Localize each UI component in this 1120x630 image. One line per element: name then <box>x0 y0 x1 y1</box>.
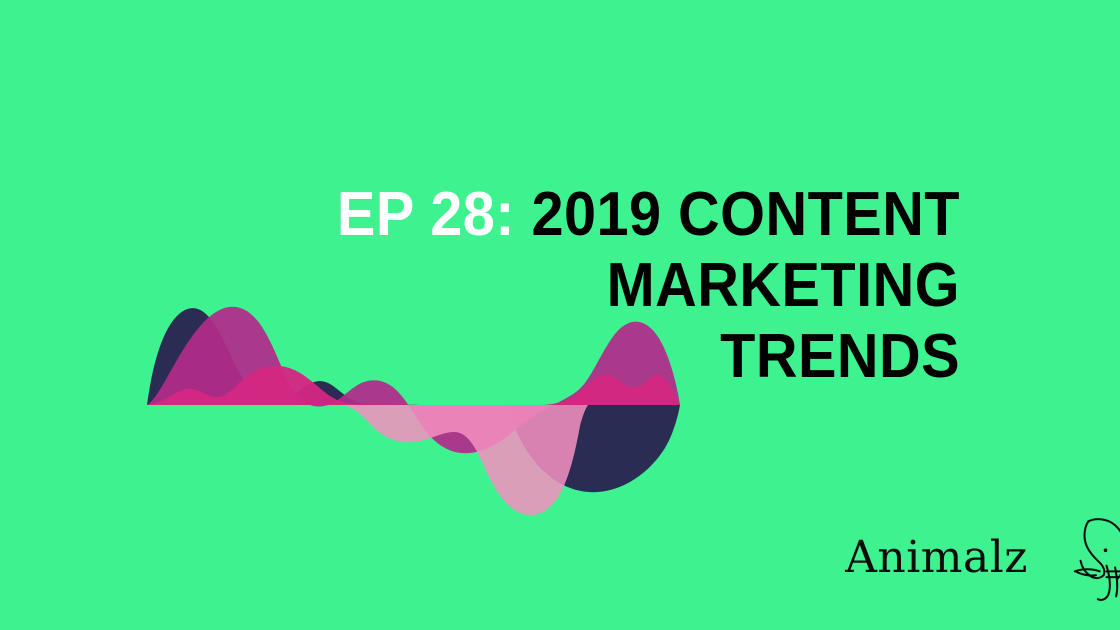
episode-title-block: EP 28: 2019 CONTENT MARKETING TRENDS <box>272 186 960 399</box>
brand-lockup: Animalz <box>845 508 1120 608</box>
title-line-1-text: 2019 CONTENT <box>531 180 960 249</box>
podcast-cover-canvas: EP 28: 2019 CONTENT MARKETING TRENDS Ani… <box>0 0 1120 630</box>
elephant-icon <box>1046 508 1120 604</box>
title-line-3: TRENDS <box>272 328 960 387</box>
title-line-1: EP 28: 2019 CONTENT <box>272 186 960 245</box>
waveform-layer-light-pink <box>147 405 588 515</box>
episode-number-label: EP 28: <box>337 180 515 249</box>
brand-wordmark: Animalz <box>845 536 1028 580</box>
title-line-2: MARKETING <box>272 257 960 316</box>
